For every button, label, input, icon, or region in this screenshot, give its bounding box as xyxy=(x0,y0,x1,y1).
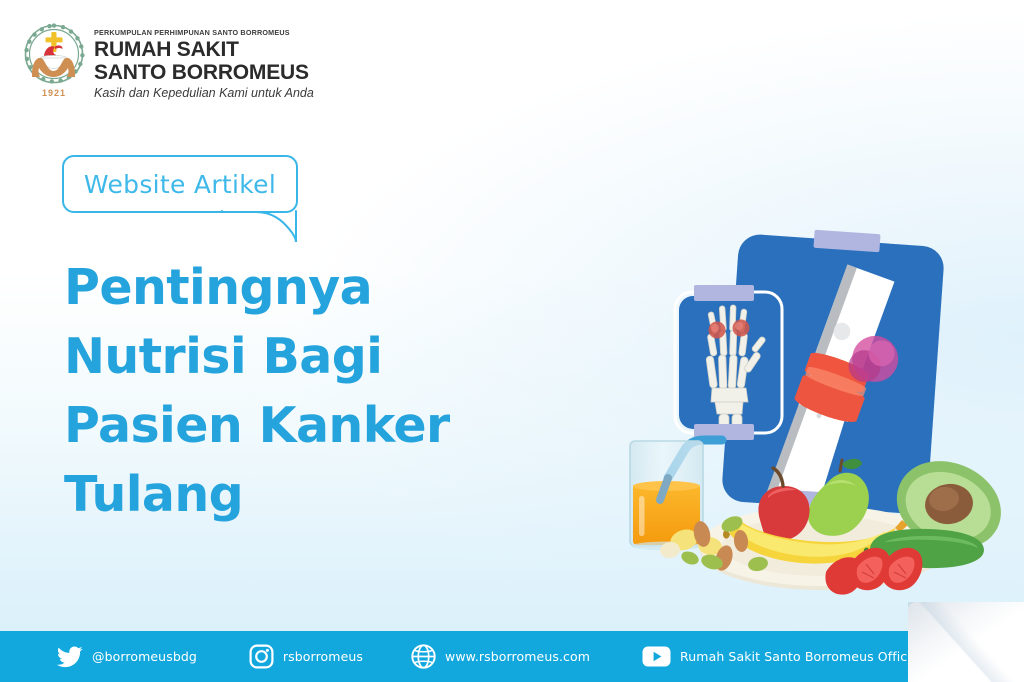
brand-tagline: Kasih dan Kepedulian Kami untuk Anda xyxy=(94,85,314,101)
globe-icon xyxy=(411,644,436,669)
social-item-website[interactable]: www.rsborromeus.com xyxy=(411,644,590,669)
headline-line-4: Tulang xyxy=(64,460,534,529)
page-title: Pentingnya Nutrisi Bagi Pasien Kanker Tu… xyxy=(64,253,534,529)
social-label-website: www.rsborromeus.com xyxy=(445,649,590,664)
badge-bubble: Website Artikel xyxy=(62,155,298,213)
twitter-icon xyxy=(57,646,83,668)
social-label-twitter: @borromeusbdg xyxy=(92,649,197,664)
headline-line-2: Nutrisi Bagi xyxy=(64,322,534,391)
brand-text-block: PERKUMPULAN PERHIMPUNAN SANTO BORROMEUS … xyxy=(94,22,314,101)
brand-name-line-2: SANTO BORROMEUS xyxy=(94,61,314,84)
page-fold-corner xyxy=(908,602,1024,682)
tape-strip xyxy=(694,285,754,301)
website-artikel-badge: Website Artikel xyxy=(62,155,298,213)
social-footer-bar: @borromeusbdg rsborromeus xyxy=(0,631,1024,682)
instagram-icon xyxy=(249,644,274,669)
headline-line-1: Pentingnya xyxy=(64,253,534,322)
borromeus-crest-logo: 1921 xyxy=(22,22,86,100)
xray-panel-small-hand xyxy=(675,285,782,440)
badge-label: Website Artikel xyxy=(84,170,276,199)
brand-org-line: PERKUMPULAN PERHIMPUNAN SANTO BORROMEUS xyxy=(94,28,314,38)
youtube-icon xyxy=(642,646,671,667)
social-item-instagram[interactable]: rsborromeus xyxy=(249,644,363,669)
bubble-tail-icon xyxy=(220,210,298,244)
fold-diagonal xyxy=(908,602,1024,682)
social-item-twitter[interactable]: @borromeusbdg xyxy=(57,646,197,668)
headline-line-3: Pasien Kanker xyxy=(64,391,534,460)
brand-name-line-1: RUMAH SAKIT xyxy=(94,38,314,61)
poster-canvas: 1921 PERKUMPULAN PERHIMPUNAN SANTO BORRO… xyxy=(0,0,1024,682)
social-label-youtube: Rumah Sakit Santo Borromeus Official xyxy=(680,649,922,664)
social-label-instagram: rsborromeus xyxy=(283,649,363,664)
brand-logo: 1921 PERKUMPULAN PERHIMPUNAN SANTO BORRO… xyxy=(22,22,314,101)
social-item-youtube[interactable]: Rumah Sakit Santo Borromeus Official xyxy=(642,646,922,667)
bone-cancer-nutrition-illustration xyxy=(612,228,1024,600)
crest-year-text: 1921 xyxy=(42,88,66,98)
